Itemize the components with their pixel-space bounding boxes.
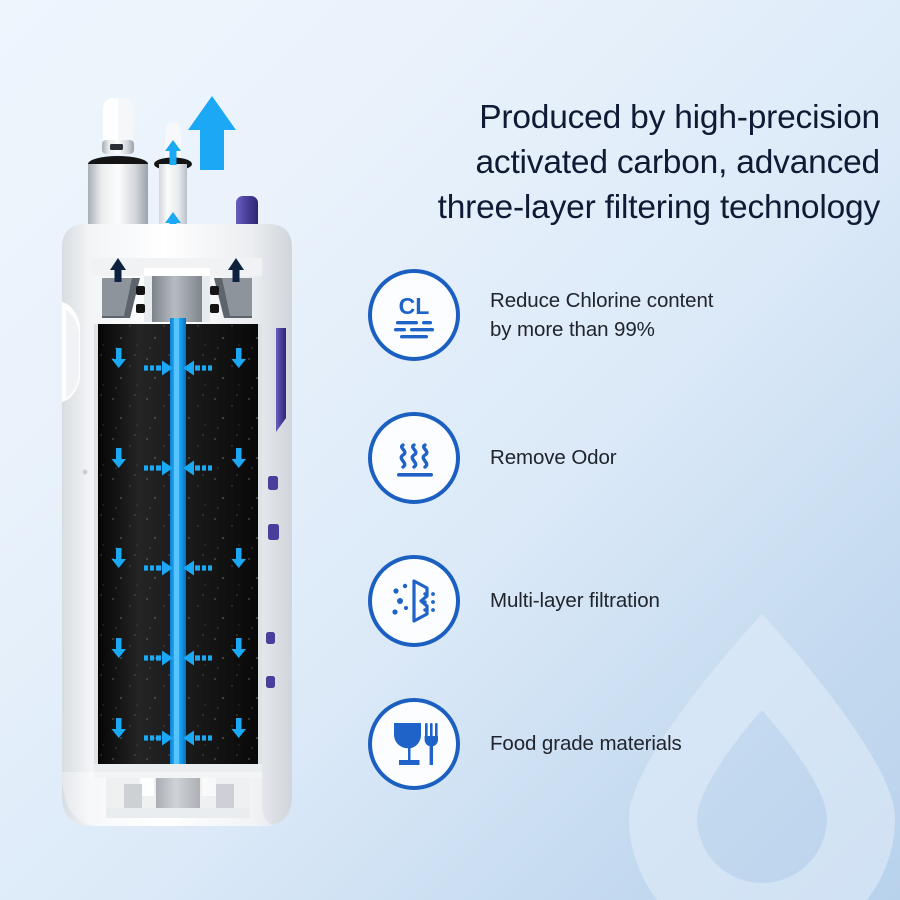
chlorine-cl-icon-label: CL [399, 293, 430, 319]
chlorine-cl-icon-badge: CL [368, 269, 460, 361]
feature-line-1: Remove Odor [490, 443, 617, 472]
feature-item-odor: Remove Odor [368, 411, 868, 505]
food-grade-glass-fork-icon [387, 716, 441, 772]
feature-text-odor: Remove Odor [490, 443, 617, 472]
feature-line-2: by more than 99% [490, 315, 713, 344]
multi-layer-filter-icon-badge [368, 555, 460, 647]
feature-item-food-grade: Food grade materials [368, 697, 868, 791]
feature-line-1: Food grade materials [490, 729, 682, 758]
odor-waves-icon-badge [368, 412, 460, 504]
feature-text-chlorine: Reduce Chlorine content by more than 99% [490, 286, 713, 344]
headline-line-2: activated carbon, advanced [310, 141, 880, 186]
headline-line-3: three-layer filtering technology [310, 186, 880, 231]
refrigerator-water-filter-cutaway [40, 72, 340, 872]
multi-layer-filter-icon [386, 574, 442, 628]
feature-item-chlorine: CL Reduce Chlorine content by more than … [368, 268, 868, 362]
feature-item-filtration: Multi-layer filtration [368, 554, 868, 648]
feature-line-1: Multi-layer filtration [490, 586, 660, 615]
feature-text-food-grade: Food grade materials [490, 729, 682, 758]
chlorine-cl-icon: CL [386, 287, 442, 343]
product-infographic: Produced by high-precision activated car… [0, 0, 900, 900]
feature-list: CL Reduce Chlorine content by more than … [368, 268, 868, 791]
page-title: Produced by high-precision activated car… [310, 96, 880, 231]
odor-waves-icon [387, 432, 441, 484]
feature-text-filtration: Multi-layer filtration [490, 586, 660, 615]
food-grade-glass-fork-icon-badge [368, 698, 460, 790]
headline-line-1: Produced by high-precision [310, 96, 880, 141]
feature-line-1: Reduce Chlorine content [490, 286, 713, 315]
